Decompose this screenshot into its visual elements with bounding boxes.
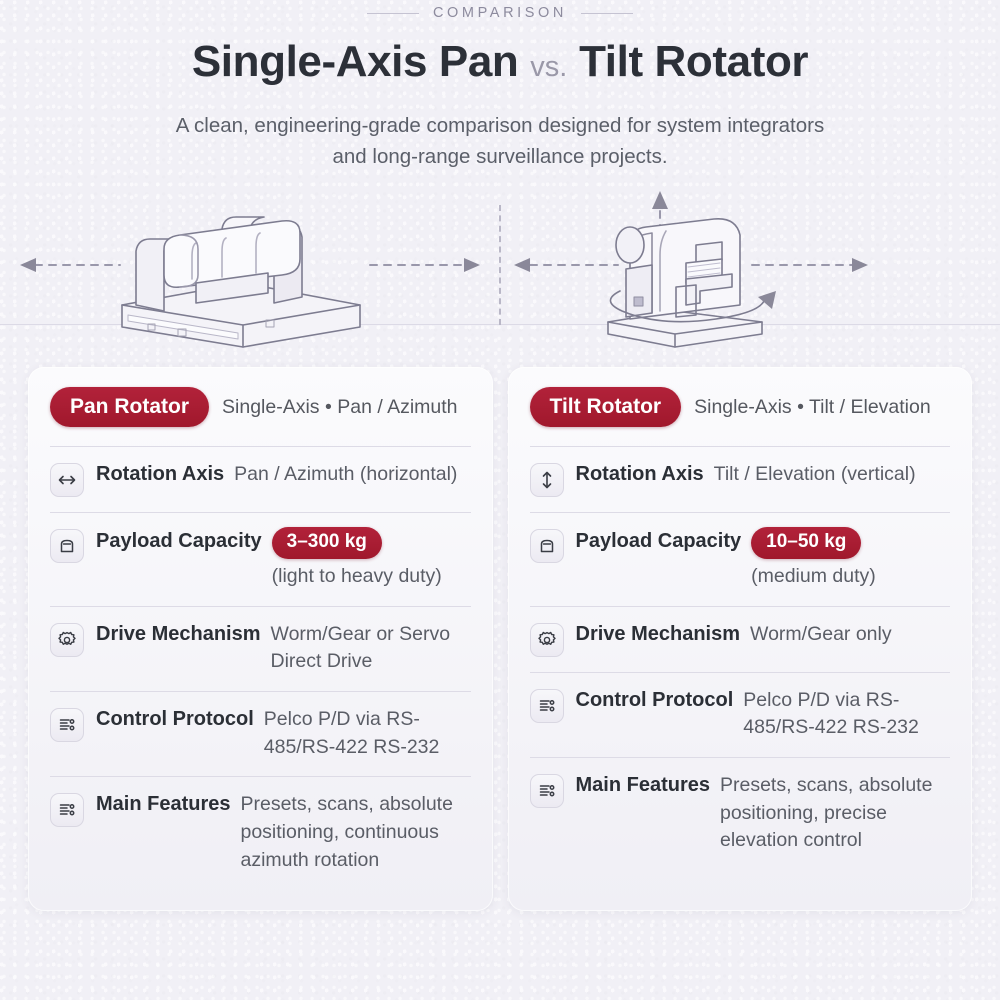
eyebrow-rule-right bbox=[581, 13, 633, 14]
eyebrow-label: COMPARISON bbox=[433, 5, 567, 21]
list-icon bbox=[530, 689, 564, 723]
row-value: Pelco P/D via RS-485/RS-422 RS-232 bbox=[743, 687, 950, 742]
row-label: Rotation Axis bbox=[576, 463, 704, 486]
card-title-pill: Pan Rotator bbox=[50, 387, 209, 427]
row-body: Control Protocol Pelco P/D via RS-485/RS… bbox=[96, 706, 471, 761]
title-part-two: Tilt Rotator bbox=[579, 37, 808, 86]
eyebrow-row: COMPARISON bbox=[0, 0, 1000, 21]
page-subtitle: A clean, engineering-grade comparison de… bbox=[0, 111, 1000, 173]
list-icon bbox=[50, 708, 84, 742]
gear-icon bbox=[50, 623, 84, 657]
row-value: Worm/Gear only bbox=[750, 621, 950, 649]
page-title: Single-Axis Pan vs. Tilt Rotator bbox=[0, 37, 1000, 87]
row-value: Worm/Gear or Servo Direct Drive bbox=[271, 621, 471, 676]
card-pan-rotator[interactable]: Pan Rotator Single-Axis • Pan / Azimuth … bbox=[28, 367, 493, 911]
gear-icon bbox=[530, 623, 564, 657]
row-value: Pelco P/D via RS-485/RS-422 RS-232 bbox=[264, 706, 471, 761]
card-subtitle: Single-Axis • Tilt / Elevation bbox=[694, 387, 931, 421]
payload-bag-icon bbox=[50, 529, 84, 563]
title-vs: vs. bbox=[530, 51, 567, 83]
payload-bag-icon bbox=[530, 529, 564, 563]
table-row: Main Features Presets, scans, absolute p… bbox=[530, 758, 951, 870]
row-body: Rotation Axis Pan / Azimuth (horizontal) bbox=[96, 461, 471, 489]
table-row: Rotation Axis Pan / Azimuth (horizontal) bbox=[50, 447, 471, 512]
list-icon bbox=[530, 774, 564, 808]
table-row: Rotation Axis Tilt / Elevation (vertical… bbox=[530, 447, 951, 512]
card-tilt-rotator[interactable]: Tilt Rotator Single-Axis • Tilt / Elevat… bbox=[508, 367, 973, 911]
tilt-rotator-illustration bbox=[500, 187, 1000, 362]
row-body: Main Features Presets, scans, absolute p… bbox=[96, 791, 471, 874]
pan-rotator-illustration bbox=[0, 187, 500, 362]
subtitle-line-one: A clean, engineering-grade comparison de… bbox=[176, 114, 824, 137]
row-label: Main Features bbox=[576, 774, 710, 797]
table-row: Drive Mechanism Worm/Gear or Servo Direc… bbox=[50, 607, 471, 691]
row-label: Drive Mechanism bbox=[576, 623, 741, 646]
row-label: Drive Mechanism bbox=[96, 623, 261, 646]
subtitle-line-two: and long-range surveillance projects. bbox=[0, 142, 1000, 173]
horizontal-arrows-icon bbox=[50, 463, 84, 497]
list-icon bbox=[50, 793, 84, 827]
table-row: Control Protocol Pelco P/D via RS-485/RS… bbox=[530, 673, 951, 757]
table-row: Main Features Presets, scans, absolute p… bbox=[50, 777, 471, 889]
row-body: Payload Capacity 3–300 kg (light to heav… bbox=[96, 527, 471, 591]
row-value-note: (light to heavy duty) bbox=[272, 563, 471, 591]
row-label: Payload Capacity bbox=[576, 530, 742, 553]
eyebrow-rule-left bbox=[367, 13, 419, 14]
table-row: Drive Mechanism Worm/Gear only bbox=[530, 607, 951, 672]
row-body: Drive Mechanism Worm/Gear or Servo Direc… bbox=[96, 621, 471, 676]
card-header: Pan Rotator Single-Axis • Pan / Azimuth bbox=[50, 387, 471, 446]
status-badge: 3–300 kg bbox=[272, 527, 382, 559]
vertical-arrows-icon bbox=[530, 463, 564, 497]
status-badge: 10–50 kg bbox=[751, 527, 861, 559]
row-body: Rotation Axis Tilt / Elevation (vertical… bbox=[576, 461, 951, 489]
row-value: Pan / Azimuth (horizontal) bbox=[234, 461, 470, 489]
row-label: Rotation Axis bbox=[96, 463, 224, 486]
row-value: Presets, scans, absolute positioning, pr… bbox=[720, 772, 950, 855]
table-row: Payload Capacity 10–50 kg (medium duty) bbox=[530, 513, 951, 606]
row-body: Payload Capacity 10–50 kg (medium duty) bbox=[576, 527, 951, 591]
row-label: Payload Capacity bbox=[96, 530, 262, 553]
row-body: Drive Mechanism Worm/Gear only bbox=[576, 621, 951, 649]
title-part-one: Single-Axis Pan bbox=[192, 37, 519, 86]
row-value: Tilt / Elevation (vertical) bbox=[714, 461, 950, 489]
row-body: Control Protocol Pelco P/D via RS-485/RS… bbox=[576, 687, 951, 742]
row-label: Main Features bbox=[96, 793, 230, 816]
table-row: Payload Capacity 3–300 kg (light to heav… bbox=[50, 513, 471, 606]
card-title-pill: Tilt Rotator bbox=[530, 387, 682, 427]
illustration-strip bbox=[0, 187, 1000, 362]
row-value: 10–50 kg (medium duty) bbox=[751, 527, 950, 591]
row-body: Main Features Presets, scans, absolute p… bbox=[576, 772, 951, 855]
row-label: Control Protocol bbox=[576, 689, 734, 712]
card-header: Tilt Rotator Single-Axis • Tilt / Elevat… bbox=[530, 387, 951, 446]
table-row: Control Protocol Pelco P/D via RS-485/RS… bbox=[50, 692, 471, 776]
row-label: Control Protocol bbox=[96, 708, 254, 731]
row-value: Presets, scans, absolute positioning, co… bbox=[240, 791, 470, 874]
card-subtitle: Single-Axis • Pan / Azimuth bbox=[222, 387, 458, 421]
comparison-cards: Pan Rotator Single-Axis • Pan / Azimuth … bbox=[0, 367, 1000, 911]
row-value-note: (medium duty) bbox=[751, 563, 950, 591]
row-value: 3–300 kg (light to heavy duty) bbox=[272, 527, 471, 591]
comparison-infographic: COMPARISON Single-Axis Pan vs. Tilt Rota… bbox=[0, 0, 1000, 1000]
